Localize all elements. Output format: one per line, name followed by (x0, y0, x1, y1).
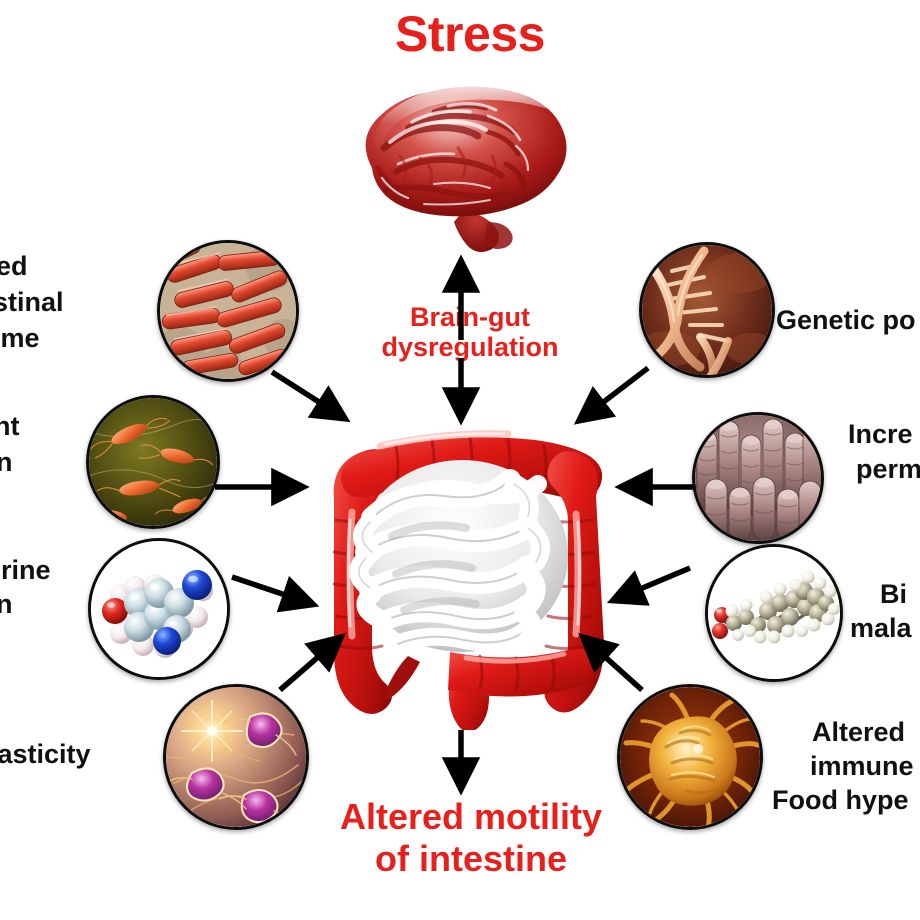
label-neuroendocrine-line3: ) (0, 624, 1, 653)
intestinal-villi-image (692, 412, 824, 544)
label-permeability-line2: perm (856, 455, 920, 484)
label-bileacid-line2: mala (850, 614, 912, 643)
label-neuroendocrine-line2: n (0, 590, 13, 619)
label-neuroplasticity-line1: lasticity (0, 740, 91, 769)
figure-canvas: Stress (0, 0, 920, 920)
label-neuroendocrine-line1: crine (0, 556, 51, 585)
label-genetics-line1: Genetic po (776, 306, 916, 335)
heading-brain-gut-dysregulation-line2: dysregulation (345, 333, 595, 362)
label-infection-line1: nt (0, 412, 19, 441)
label-immune-line2: immune (810, 752, 914, 781)
label-microbiome-line2: estinal (0, 288, 64, 317)
label-immune-line1: Altered (812, 718, 905, 747)
label-immune-line3: Food hype (772, 786, 909, 815)
heading-stress: Stress (330, 8, 610, 62)
label-microbiome-line3: ome (0, 324, 40, 353)
neuron-synapse-image (163, 684, 309, 830)
dna-double-helix-image (639, 242, 775, 378)
label-infection-line2: n (0, 448, 13, 477)
flagellated-bacteria-image (86, 395, 220, 529)
label-microbiome-line1: ed (0, 252, 28, 281)
heading-brain-gut-dysregulation-line1: Brain-gut (355, 303, 585, 332)
heading-altered-motility-line1: Altered motility (311, 798, 631, 837)
bile-acid-molecule-image (705, 544, 843, 682)
label-bileacid-line1: Bi (880, 580, 907, 609)
colon-small-intestine-image (300, 400, 630, 730)
red-3d-brain-image (338, 72, 582, 262)
heading-altered-motility-line2: of intestine (311, 840, 631, 879)
label-permeability-line1: Incre (848, 420, 913, 449)
rod-bacteria-colony-image (157, 240, 299, 382)
immune-cell-image (617, 684, 763, 830)
serotonin-molecule-image (88, 538, 230, 680)
